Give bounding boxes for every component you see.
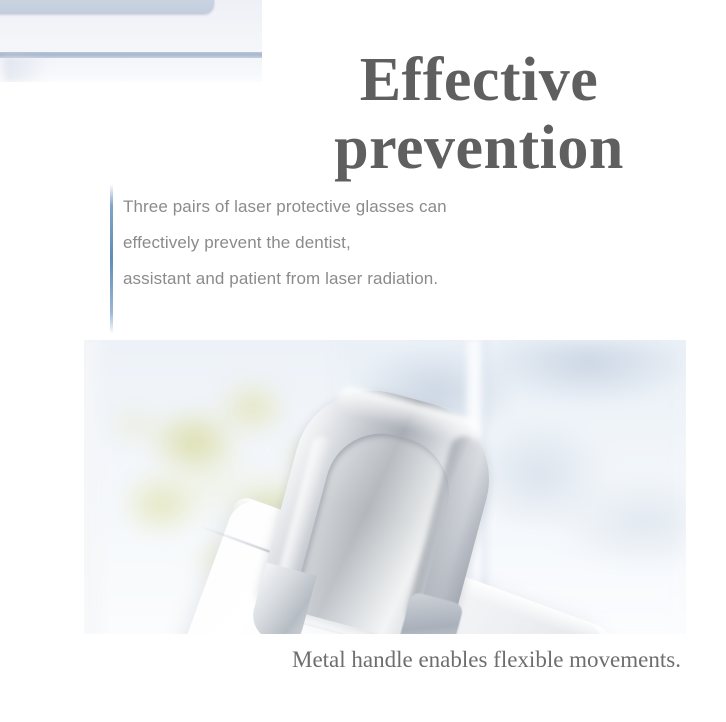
previous-image-bleed [0,0,262,82]
product-feature-page: Effective prevention Three pairs of lase… [0,0,726,722]
metal-handle-product-photo [84,340,686,634]
section-heading: Effective prevention [296,46,662,182]
accent-rule [110,185,113,333]
feature-description: Three pairs of laser protective glasses … [123,189,553,297]
bleed-soft-shadow [4,56,46,82]
photo-caption: Metal handle enables flexible movements. [292,646,681,674]
description-line-3: assistant and patient from laser radiati… [123,261,553,297]
photo-left-wall-edge [84,340,110,634]
description-line-2: effectively prevent the dentist, [123,225,553,261]
bleed-rounded-shape [0,0,214,14]
description-line-1: Three pairs of laser protective glasses … [123,189,553,225]
